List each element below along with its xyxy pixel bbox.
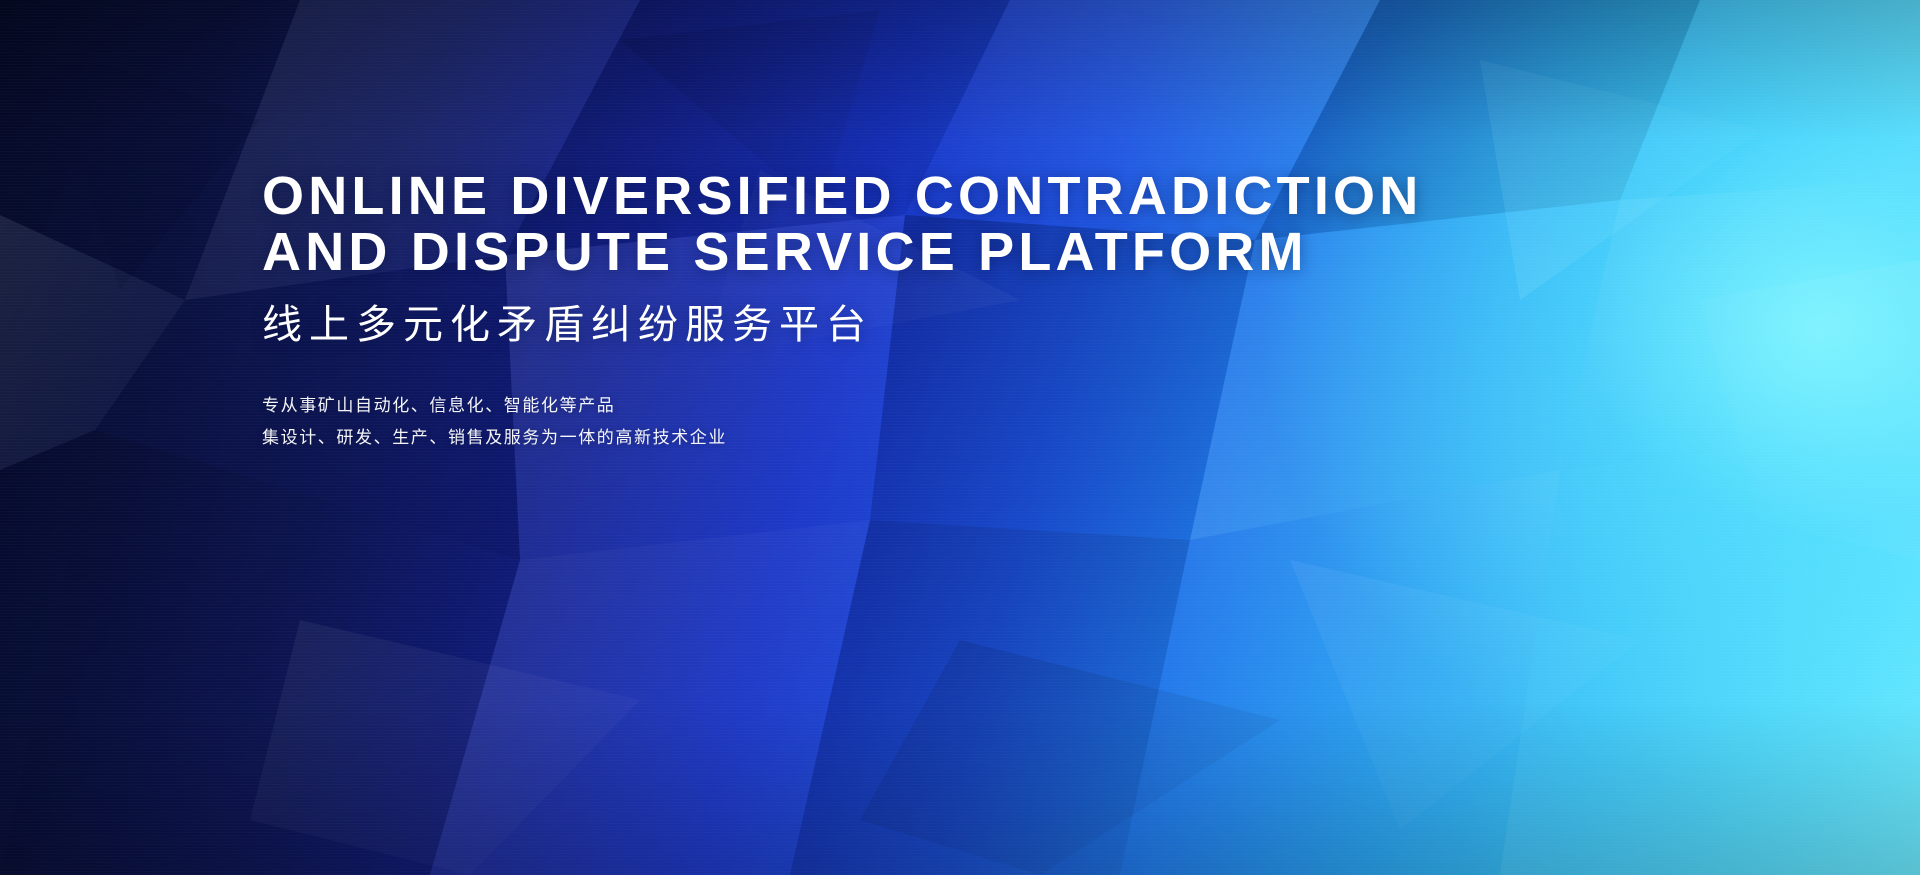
hero-subtitle-block: 专从事矿山自动化、信息化、智能化等产品 集设计、研发、生产、销售及服务为一体的高… <box>262 390 1422 454</box>
subtitle-line-1: 专从事矿山自动化、信息化、智能化等产品 <box>262 390 1422 422</box>
hero-headline-english: ONLINE DIVERSIFIED CONTRADICTION AND DIS… <box>262 168 1422 280</box>
headline-line-2: AND DISPUTE SERVICE PLATFORM <box>262 224 1422 280</box>
hero-copy-block: ONLINE DIVERSIFIED CONTRADICTION AND DIS… <box>262 168 1422 454</box>
hero-banner: ONLINE DIVERSIFIED CONTRADICTION AND DIS… <box>0 0 1920 875</box>
headline-line-1: ONLINE DIVERSIFIED CONTRADICTION <box>262 168 1422 224</box>
subtitle-line-2: 集设计、研发、生产、销售及服务为一体的高新技术企业 <box>262 422 1422 454</box>
hero-headline-chinese: 线上多元化矛盾纠纷服务平台 <box>262 302 1422 348</box>
